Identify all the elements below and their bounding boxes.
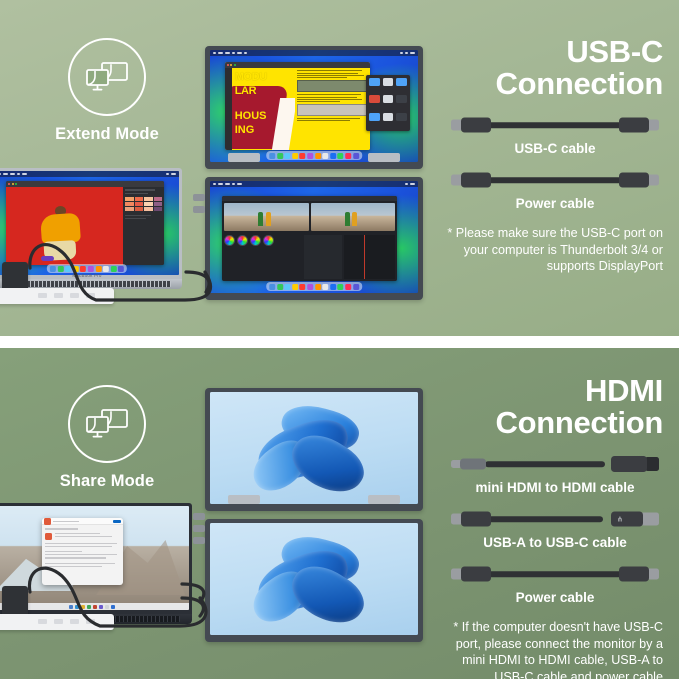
power-cable-icon — [451, 169, 659, 191]
power-cable-icon — [451, 563, 659, 585]
monitor-upper-screen: MODU LAR HOUS ING — [210, 50, 418, 162]
monitor-lower — [205, 519, 423, 642]
infographic-page: Extend Mode — [0, 0, 679, 679]
usb-a-to-usb-c-cable-icon: ⋔ — [451, 508, 659, 530]
monitor-side-ports — [193, 513, 205, 520]
panel-divider — [0, 336, 679, 348]
mode-label-share: Share Mode — [22, 472, 192, 491]
magazine-title-line-2: LAR — [235, 86, 256, 96]
hdmi-note: * If the computer doesn't have USB-C por… — [447, 619, 663, 679]
usbc-info-column: USB-C Connection USB-C cable — [447, 36, 663, 275]
magazine-text-page — [295, 68, 370, 149]
laptop-brand-label: MacBook Pro — [72, 273, 101, 278]
panel-title-hdmi: HDMI Connection — [447, 375, 663, 439]
mode-label-extend: Extend Mode — [22, 125, 192, 144]
laptop-lid — [0, 503, 192, 614]
windows-bloom-graphic — [239, 531, 389, 627]
macos-dock[interactable] — [266, 282, 362, 291]
monitor-side-ports — [193, 206, 205, 213]
mode-badge-share: Share Mode — [22, 385, 192, 491]
dual-monitor-extend-icon — [68, 38, 146, 116]
monitor-lower-screen — [210, 181, 418, 293]
mini-hdmi-to-hdmi-cable-icon — [451, 453, 659, 475]
laptop-keyboard — [3, 281, 170, 287]
monitor-side-ports — [193, 194, 205, 201]
cable-item-power: Power cable — [447, 563, 663, 605]
power-strip — [0, 614, 114, 630]
video-editor-window — [222, 196, 397, 281]
editor-source-preview — [224, 203, 308, 231]
panel-title-line-2: Connection — [447, 407, 663, 439]
panel-title-usbc: USB-C Connection — [447, 36, 663, 100]
monitor-side-ports — [193, 525, 205, 532]
magazine-title-line-4: ING — [235, 125, 255, 135]
magazine-title-line-1: MODU — [235, 72, 267, 82]
dual-monitor-share-icon — [68, 385, 146, 463]
editor-program-preview — [311, 203, 395, 231]
panel-title-line-2: Connection — [447, 68, 663, 100]
macos-menu-bar — [0, 171, 179, 177]
macos-menu-bar — [210, 50, 418, 56]
panel-title-line-1: USB-C — [447, 36, 663, 68]
subject-photo — [36, 204, 88, 260]
hdmi-cable-list: mini HDMI to HDMI cable ⋔ USB-A to USB-C… — [447, 453, 663, 605]
monitor-lower-screen — [210, 523, 418, 635]
monitor-upper-screen — [210, 392, 418, 504]
dual-monitor-stack-hdmi — [205, 388, 423, 642]
panel-title-line-1: HDMI — [447, 375, 663, 407]
cable-item-usb-c: USB-C cable — [447, 114, 663, 156]
usbc-cable-list: USB-C cable Power cable — [447, 114, 663, 211]
color-wheels[interactable] — [224, 235, 274, 279]
cable-caption-usb-c: USB-C cable — [447, 141, 663, 156]
magazine-cover-page: MODU LAR HOUS ING — [232, 68, 296, 149]
photo-editor-window — [6, 181, 164, 264]
magazine-title-line-3: HOUS — [235, 111, 267, 121]
mode-badge-extend: Extend Mode — [22, 38, 192, 144]
app-grid-window — [366, 75, 410, 131]
monitor-upper — [205, 388, 423, 511]
editor-side-panel — [123, 187, 164, 264]
monitor-lower — [205, 177, 423, 300]
cable-caption-usb-a-to-c: USB-A to USB-C cable — [447, 535, 663, 550]
editor-timeline[interactable] — [344, 235, 395, 279]
panel-usb-c-connection: Extend Mode — [0, 0, 679, 337]
monitor-side-ports — [193, 537, 205, 544]
windows-bloom-graphic — [239, 400, 389, 496]
editor-parameter-list — [304, 235, 342, 279]
color-swatches[interactable] — [125, 197, 162, 211]
cable-caption-power: Power cable — [447, 590, 663, 605]
magazine-layout-window: MODU LAR HOUS ING — [225, 62, 371, 149]
cable-item-power: Power cable — [447, 169, 663, 211]
macos-dock[interactable] — [47, 264, 127, 273]
laptop-screen — [0, 171, 179, 275]
tool-rail — [225, 68, 232, 149]
cable-caption-mini-hdmi: mini HDMI to HDMI cable — [447, 480, 663, 495]
windows-11-wallpaper — [210, 392, 418, 504]
cable-caption-power: Power cable — [447, 196, 663, 211]
dialog-body — [42, 525, 123, 585]
usb-trident-icon: ⋔ — [617, 515, 623, 523]
cable-item-mini-hdmi: mini HDMI to HDMI cable — [447, 453, 663, 495]
dual-monitor-stack-usbc: MODU LAR HOUS ING — [205, 46, 423, 300]
windows-11-wallpaper — [210, 523, 418, 635]
laptop-windows — [0, 503, 192, 624]
usbc-note: * Please make sure the USB-C port on you… — [447, 225, 663, 274]
monitor-upper: MODU LAR HOUS ING — [205, 46, 423, 169]
windows-taskbar[interactable] — [0, 603, 189, 610]
cable-item-usb-a-to-c: ⋔ USB-A to USB-C cable — [447, 508, 663, 550]
macos-dock[interactable] — [266, 151, 362, 160]
dialog-title-bar — [42, 518, 123, 525]
panel-hdmi-connection: Share Mode — [0, 348, 679, 679]
photo-canvas — [6, 187, 123, 264]
macos-menu-bar — [210, 181, 418, 187]
power-strip — [0, 288, 114, 304]
settings-dialog-window — [42, 518, 123, 585]
hdmi-info-column: HDMI Connection mini HDMI to HDMI cable — [447, 375, 663, 679]
laptop-screen — [0, 506, 189, 610]
usb-c-cable-icon — [451, 114, 659, 136]
